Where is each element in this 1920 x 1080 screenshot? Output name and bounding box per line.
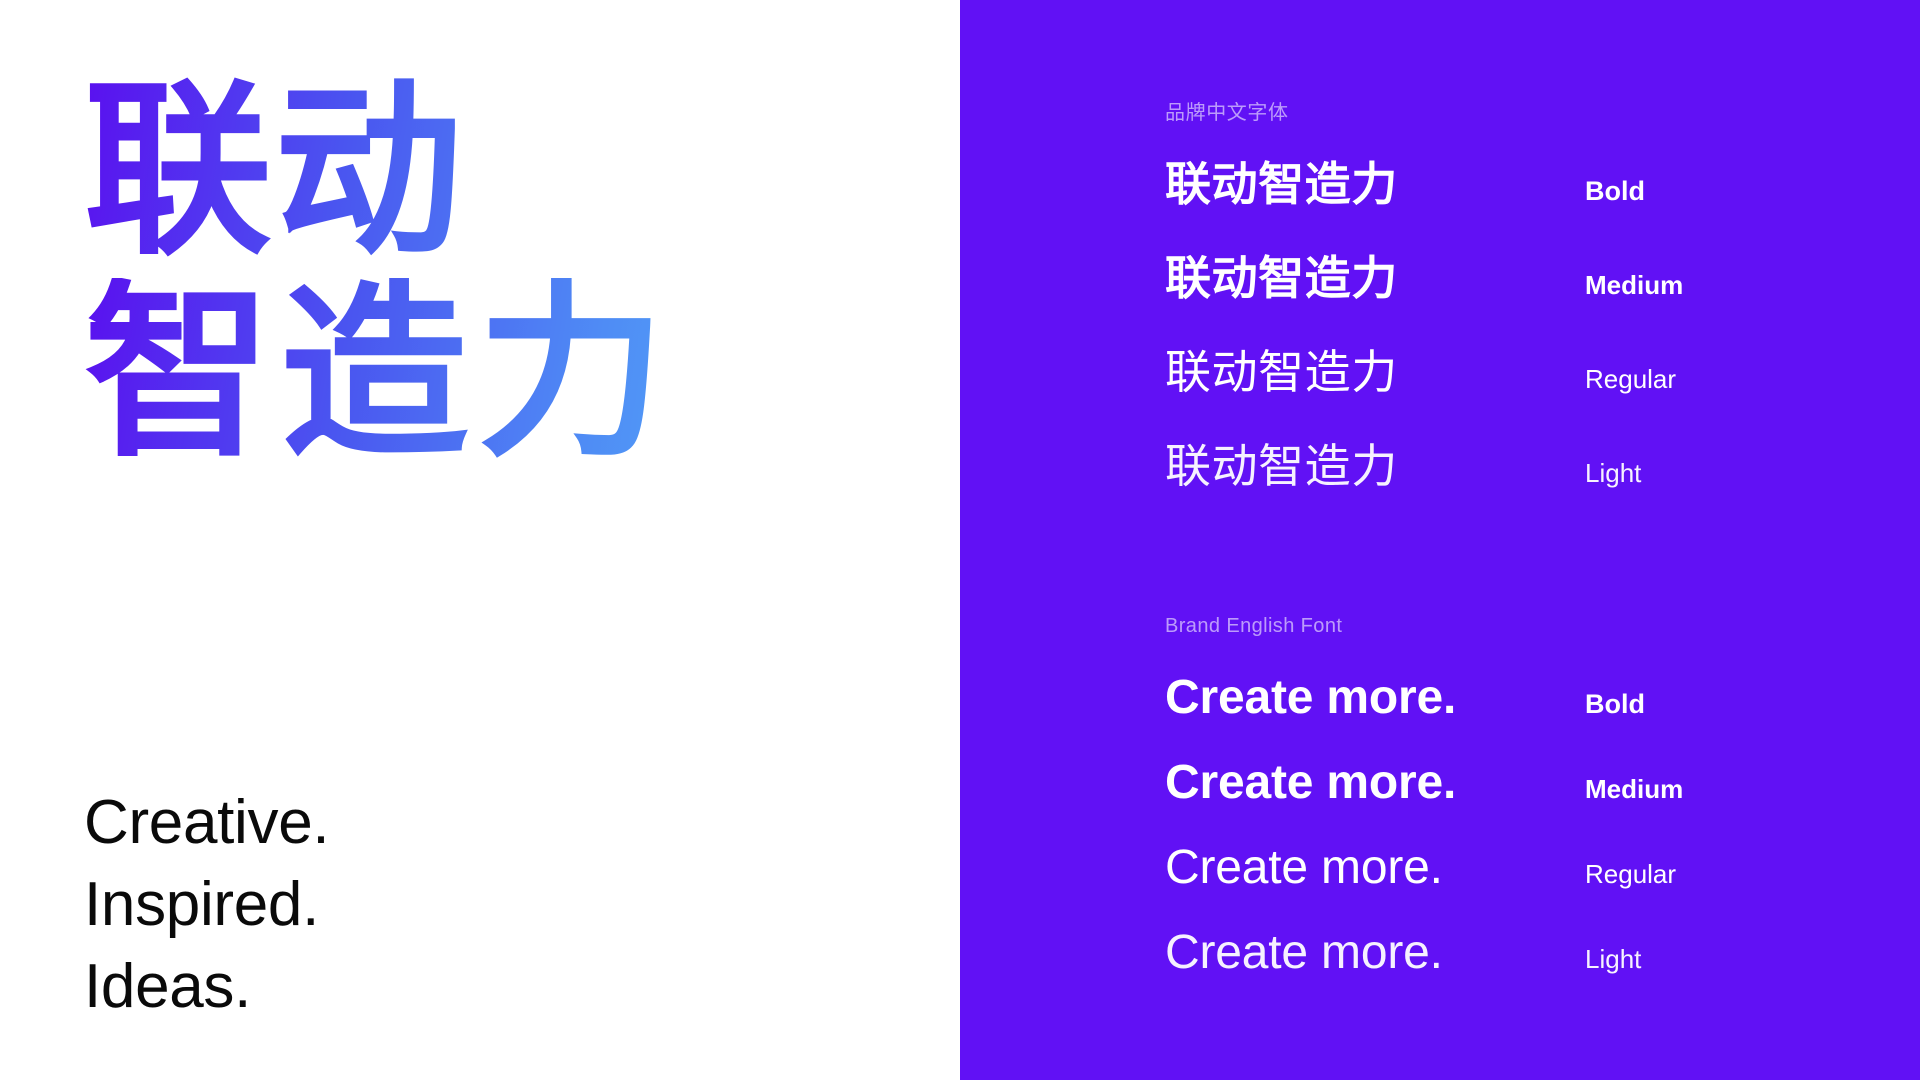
tagline-line-1: Creative. (84, 782, 329, 864)
english-weight-label-light: Light (1585, 946, 1641, 972)
tagline-line-2: Inspired. (84, 864, 329, 946)
left-panel: 联动 智造力 Creative. Inspired. Ideas. (0, 0, 960, 1080)
english-weight-label-regular: Regular (1585, 861, 1676, 887)
english-font-section: Brand English Font Create more. Bold Cre… (1165, 615, 1880, 1014)
chinese-weight-label-medium: Medium (1585, 272, 1683, 298)
chinese-font-section-title: 品牌中文字体 (1165, 96, 1880, 125)
english-weight-label-bold: Bold (1585, 691, 1645, 718)
english-sample-medium: Create more. (1165, 759, 1585, 807)
chinese-sample-medium: 联动智造力 (1165, 255, 1585, 301)
tagline: Creative. Inspired. Ideas. (84, 782, 329, 1027)
chinese-sample-bold: 联动智造力 (1165, 161, 1585, 207)
english-weight-row-light: Create more. Light (1165, 929, 1880, 1014)
tagline-line-3: Ideas. (84, 946, 329, 1028)
chinese-weight-row-medium: 联动智造力 Medium (1165, 255, 1880, 349)
chinese-weight-row-light: 联动智造力 Light (1165, 443, 1880, 537)
english-sample-bold: Create more. (1165, 674, 1585, 722)
display-headline-line-1: 联动 (84, 76, 904, 268)
english-weight-row-regular: Create more. Regular (1165, 844, 1880, 929)
english-sample-light: Create more. (1165, 929, 1585, 977)
chinese-weight-label-bold: Bold (1585, 178, 1645, 205)
chinese-font-section: 品牌中文字体 联动智造力 Bold 联动智造力 Medium 联动智造力 Reg… (1165, 96, 1880, 537)
english-font-section-title: Brand English Font (1165, 615, 1880, 638)
chinese-weight-label-regular: Regular (1585, 366, 1676, 392)
display-headline-line-2: 智造力 (84, 278, 904, 470)
english-weight-row-medium: Create more. Medium (1165, 759, 1880, 844)
chinese-sample-light: 联动智造力 (1165, 443, 1585, 489)
typography-specimen-board: 联动 智造力 Creative. Inspired. Ideas. 品牌中文字体… (0, 0, 1920, 1080)
chinese-sample-regular: 联动智造力 (1165, 349, 1585, 395)
english-weight-label-medium: Medium (1585, 776, 1683, 802)
english-weight-row-bold: Create more. Bold (1165, 674, 1880, 759)
chinese-weight-row-regular: 联动智造力 Regular (1165, 349, 1880, 443)
display-headline: 联动 智造力 (84, 76, 904, 470)
right-panel: 品牌中文字体 联动智造力 Bold 联动智造力 Medium 联动智造力 Reg… (960, 0, 1920, 1080)
chinese-weight-label-light: Light (1585, 460, 1641, 486)
chinese-weight-row-bold: 联动智造力 Bold (1165, 161, 1880, 255)
english-sample-regular: Create more. (1165, 844, 1585, 892)
